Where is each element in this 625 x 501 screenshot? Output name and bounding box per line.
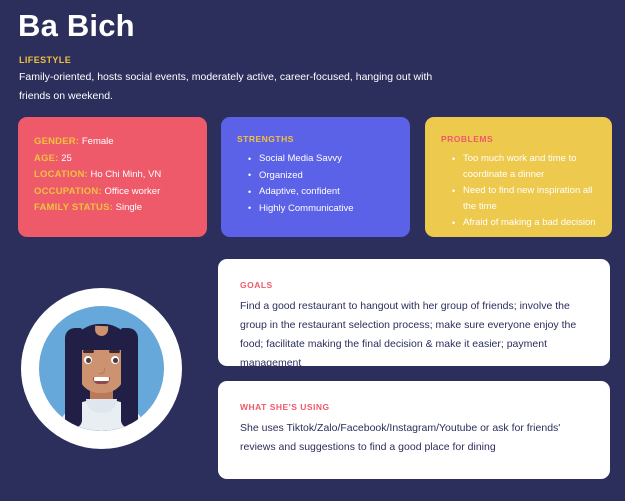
demographics-key: OCCUPATION: xyxy=(34,186,102,197)
problems-card: PROBLEMS Too much work and time to coord… xyxy=(425,117,612,237)
list-item: FAMILY STATUS: Single xyxy=(34,200,191,217)
demographics-value: Office worker xyxy=(104,186,160,197)
using-card: WHAT SHE'S USING She uses Tiktok/Zalo/Fa… xyxy=(218,381,610,479)
avatar-mouth xyxy=(93,377,110,384)
avatar-teeth xyxy=(94,377,109,381)
demographics-key: GENDER: xyxy=(34,136,79,147)
problems-list: Too much work and time to coordinate a d… xyxy=(441,151,598,231)
persona-canvas: Ba Bich LIFESTYLE Family-oriented, hosts… xyxy=(0,0,625,501)
strengths-heading: STRENGTHS xyxy=(237,134,394,144)
goals-heading: GOALS xyxy=(240,280,588,290)
list-item: Need to find new inspiration all the tim… xyxy=(463,183,598,215)
demographics-list: GENDER: Female AGE: 25 LOCATION: Ho Chi … xyxy=(34,134,191,217)
goals-card: GOALS Find a good restaurant to hangout … xyxy=(218,259,610,366)
list-item: OCCUPATION: Office worker xyxy=(34,184,191,201)
demographics-value: Ho Chi Minh, VN xyxy=(91,169,162,180)
list-item: LOCATION: Ho Chi Minh, VN xyxy=(34,167,191,184)
demographics-value: 25 xyxy=(61,153,72,164)
demographics-value: Single xyxy=(116,202,142,213)
demographics-key: LOCATION: xyxy=(34,169,88,180)
avatar-eyebrow-right xyxy=(109,350,120,353)
lifestyle-label: LIFESTYLE xyxy=(19,55,71,65)
using-text: She uses Tiktok/Zalo/Facebook/Instagram/… xyxy=(240,419,588,457)
problems-heading: PROBLEMS xyxy=(441,134,598,144)
avatar-pupil-right xyxy=(113,358,118,364)
strengths-card: STRENGTHS Social Media Savvy Organized A… xyxy=(221,117,410,237)
demographics-key: FAMILY STATUS: xyxy=(34,202,113,213)
lifestyle-text: Family-oriented, hosts social events, mo… xyxy=(19,68,439,106)
avatar-eyebrow-left xyxy=(83,350,94,353)
list-item: Too much work and time to coordinate a d… xyxy=(463,151,598,183)
list-item: Social Media Savvy xyxy=(259,151,394,168)
demographics-value: Female xyxy=(82,136,114,147)
list-item: Adaptive, confident xyxy=(259,184,394,201)
list-item: Afraid of making a bad decision xyxy=(463,215,598,231)
list-item: AGE: 25 xyxy=(34,151,191,168)
demographics-card: GENDER: Female AGE: 25 LOCATION: Ho Chi … xyxy=(18,117,207,237)
avatar xyxy=(21,288,182,449)
avatar-pupil-left xyxy=(86,358,91,364)
list-item: Highly Communicative xyxy=(259,201,394,218)
list-item: Organized xyxy=(259,168,394,185)
strengths-list: Social Media Savvy Organized Adaptive, c… xyxy=(237,151,394,217)
goals-text: Find a good restaurant to hangout with h… xyxy=(240,297,588,373)
page-title: Ba Bich xyxy=(18,6,135,46)
list-item: GENDER: Female xyxy=(34,134,191,151)
using-heading: WHAT SHE'S USING xyxy=(240,402,588,412)
avatar-portrait-icon xyxy=(39,306,164,431)
demographics-key: AGE: xyxy=(34,153,59,164)
